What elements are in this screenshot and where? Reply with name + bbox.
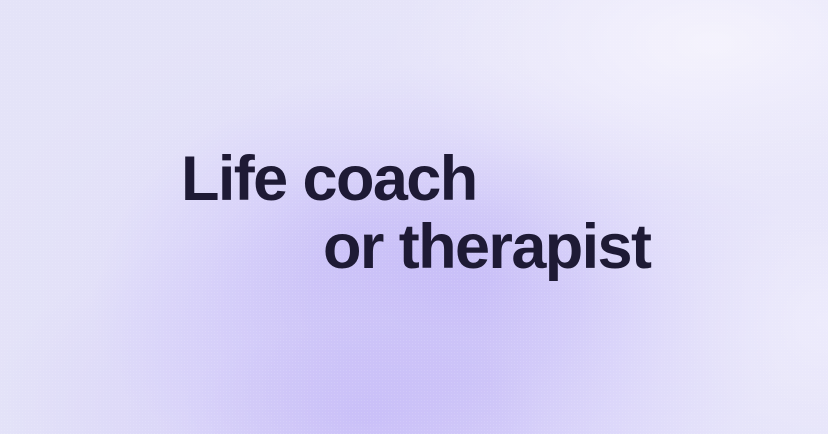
headline-line-1: Life coach [181, 145, 477, 213]
promo-canvas: Life coach or therapist [0, 0, 828, 434]
headline-line-2: or therapist [323, 213, 650, 281]
